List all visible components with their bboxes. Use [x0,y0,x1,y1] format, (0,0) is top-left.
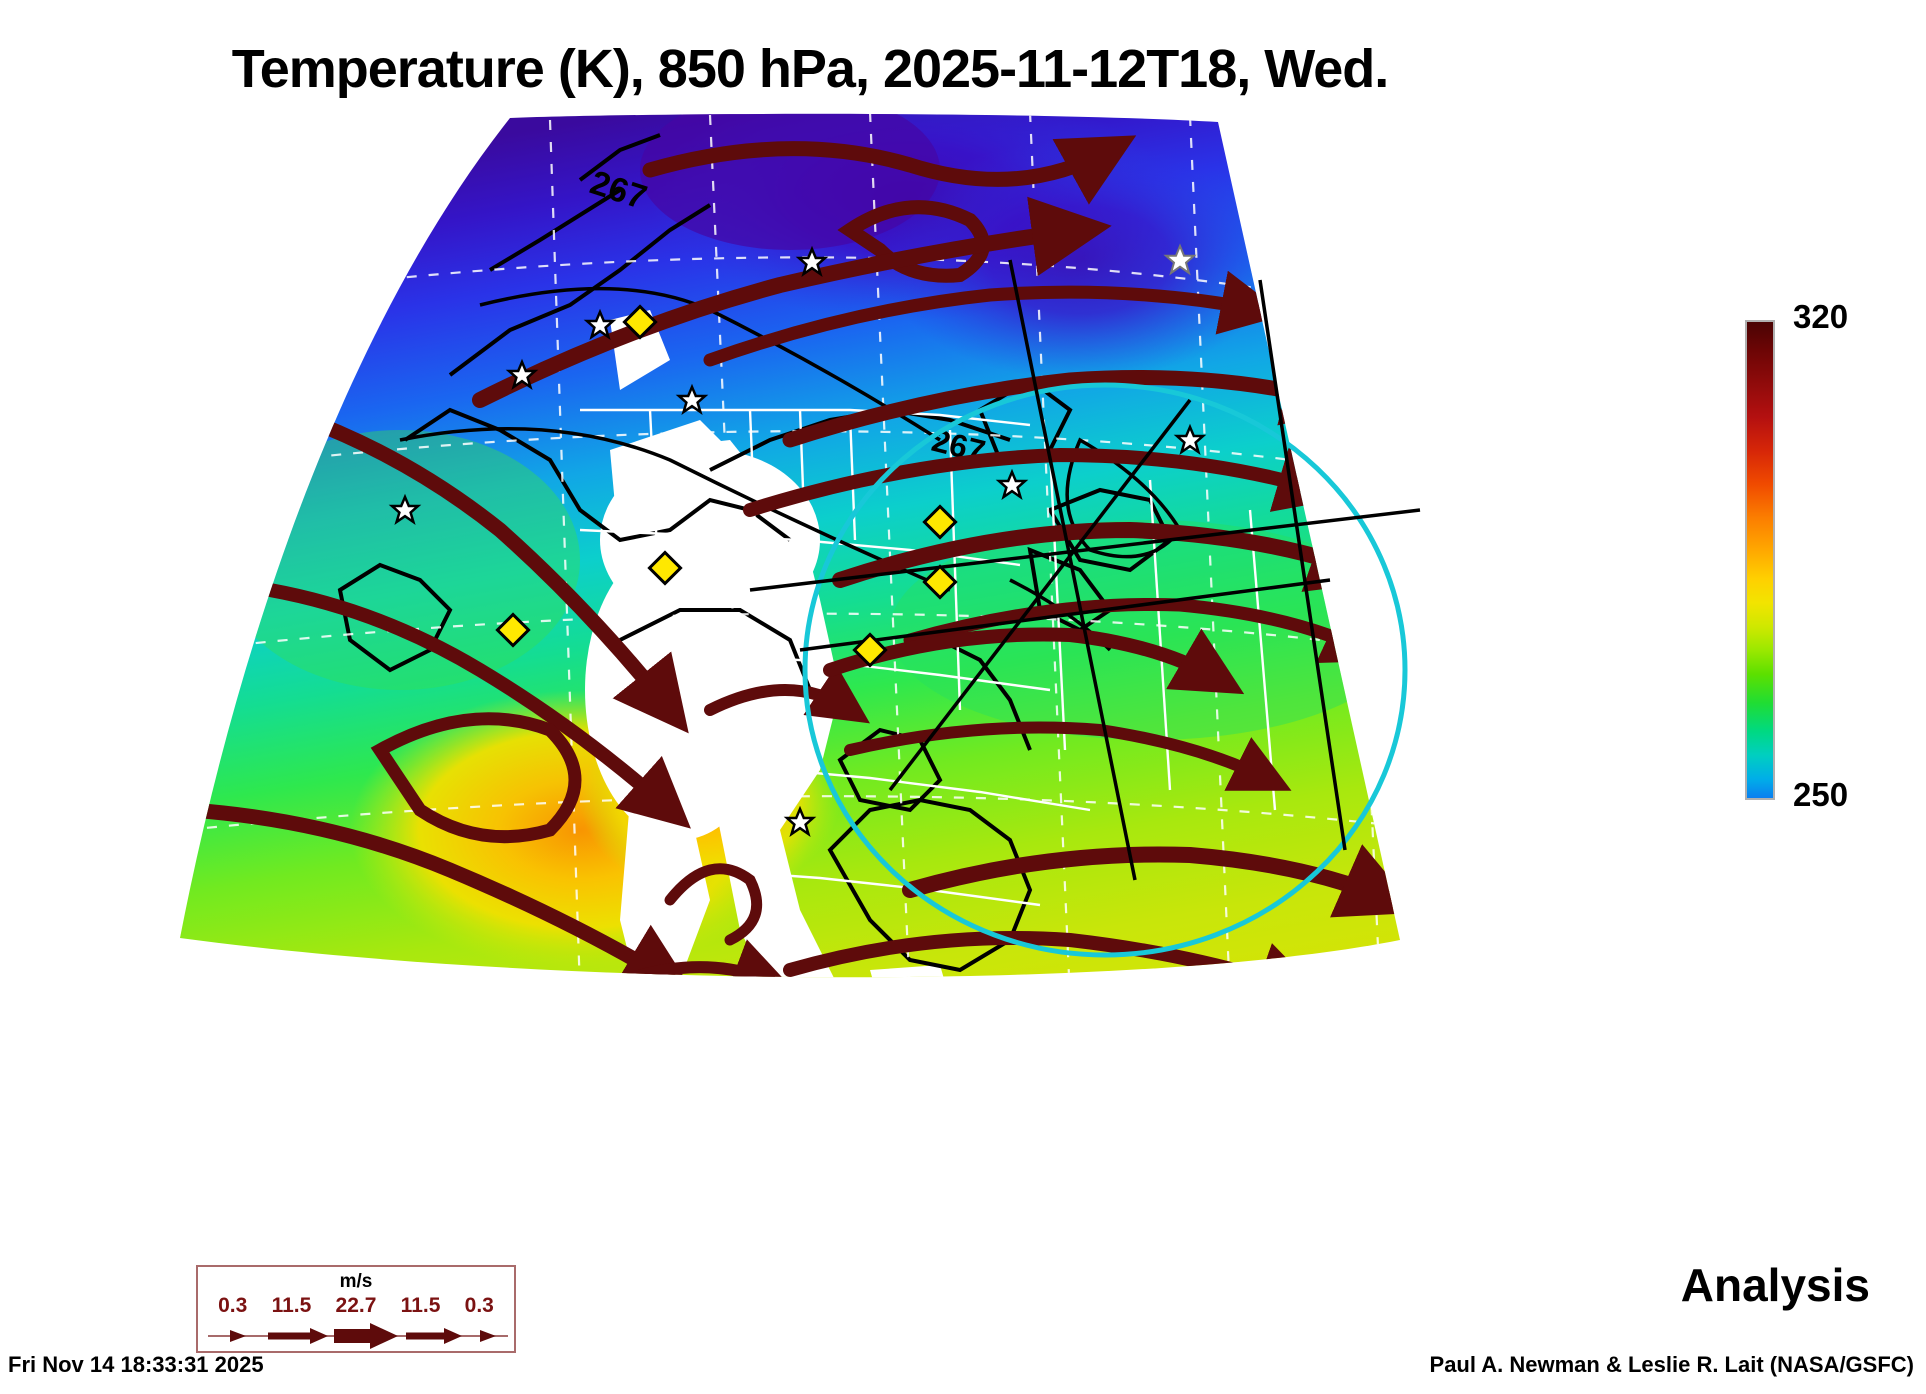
map-panel[interactable]: 267 267 [150,110,1570,1020]
analysis-label: Analysis [1681,1258,1870,1312]
wind-tick-4: 0.3 [465,1294,494,1318]
author-credit: Paul A. Newman & Leslie R. Lait (NASA/GS… [1430,1352,1914,1378]
generation-timestamp: Fri Nov 14 18:33:31 2025 [8,1352,264,1378]
wind-tick-labels: 0.3 11.5 22.7 11.5 0.3 [198,1294,514,1318]
colorbar-max-label: 320 [1793,298,1848,336]
wind-speed-legend: m/s 0.3 11.5 22.7 11.5 0.3 [196,1265,516,1353]
wind-tick-2: 22.7 [336,1294,377,1318]
temperature-map[interactable]: 267 267 [150,110,1570,1020]
wind-tick-3: 11.5 [401,1294,441,1318]
colorbar-min-label: 250 [1793,776,1848,814]
colorbar-gradient [1745,320,1775,800]
colorbar: 320 250 [1745,320,1925,820]
wind-units-label: m/s [198,1271,514,1293]
wind-tick-0: 0.3 [218,1294,247,1318]
wind-arrow-scale [206,1323,510,1349]
page-title: Temperature (K), 850 hPa, 2025-11-12T18,… [0,38,1620,100]
wind-tick-1: 11.5 [272,1294,312,1318]
